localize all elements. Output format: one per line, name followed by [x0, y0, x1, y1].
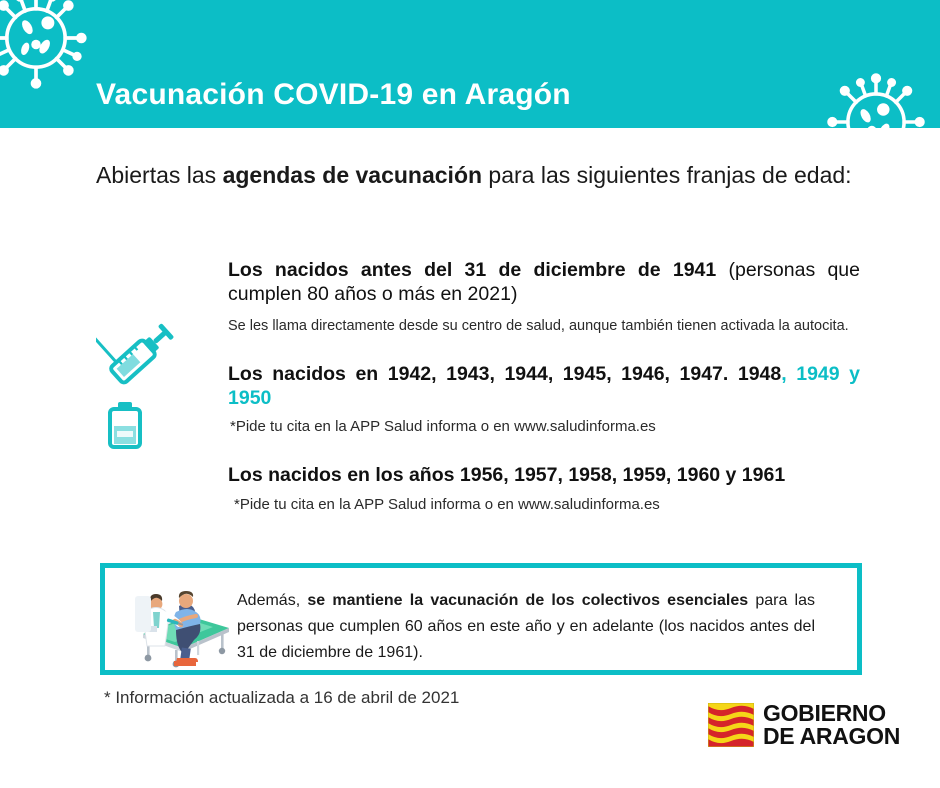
update-footnote: * Información actualizada a 16 de abril … [104, 688, 459, 708]
logo-text: GOBIERNO DE ARAGON [763, 702, 900, 748]
syringe-vial-icon [96, 318, 196, 453]
callout-text-bold: se mantiene la vacunación de los colecti… [307, 592, 748, 609]
intro-text-bold: agendas de vacunación [223, 162, 482, 188]
virus-icon [0, 0, 90, 92]
age-group-1-title-bold: Los nacidos antes del 31 de diciembre de… [228, 259, 716, 281]
age-group-block-3: Los nacidos en los años 1956, 1957, 1958… [228, 463, 860, 515]
aragon-flag-icon [708, 703, 754, 747]
age-group-2-title: Los nacidos en 1942, 1943, 1944, 1945, 1… [228, 362, 860, 410]
page-title: Vacunación COVID-19 en Aragón [96, 78, 571, 112]
logo-line-1: GOBIERNO [763, 702, 900, 725]
callout-text-part1: Además, [237, 592, 307, 609]
intro-paragraph: Abiertas las agendas de vacunación para … [96, 156, 886, 194]
intro-text-part2: para las siguientes franjas de edad: [482, 162, 852, 188]
age-group-block-2: Los nacidos en 1942, 1943, 1944, 1945, 1… [228, 362, 860, 437]
vaccination-scene-illustration [117, 576, 243, 668]
age-group-2-title-bold: Los nacidos en 1942, 1943, 1944, 1945, 1… [228, 363, 781, 385]
callout-text: Además, se mantiene la vacunación de los… [237, 588, 815, 666]
age-group-block-1: Los nacidos antes del 31 de diciembre de… [228, 258, 860, 336]
age-groups-list: Los nacidos antes del 31 de diciembre de… [228, 258, 860, 515]
age-group-1-title: Los nacidos antes del 31 de diciembre de… [228, 258, 860, 306]
age-group-2-note: *Pide tu cita en la APP Salud informa o … [228, 417, 860, 437]
age-group-3-note: *Pide tu cita en la APP Salud informa o … [228, 495, 860, 515]
intro-text-part1: Abiertas las [96, 162, 223, 188]
age-group-1-note: Se les llama directamente desde su centr… [228, 316, 860, 336]
logo-line-2: DE ARAGON [763, 725, 900, 748]
essential-workers-callout: Además, se mantiene la vacunación de los… [100, 563, 862, 675]
virus-icon [824, 70, 928, 128]
gobierno-de-aragon-logo: GOBIERNO DE ARAGON [708, 701, 904, 749]
header-banner: Vacunación COVID-19 en Aragón [0, 0, 940, 128]
age-group-3-title: Los nacidos en los años 1956, 1957, 1958… [228, 463, 860, 487]
